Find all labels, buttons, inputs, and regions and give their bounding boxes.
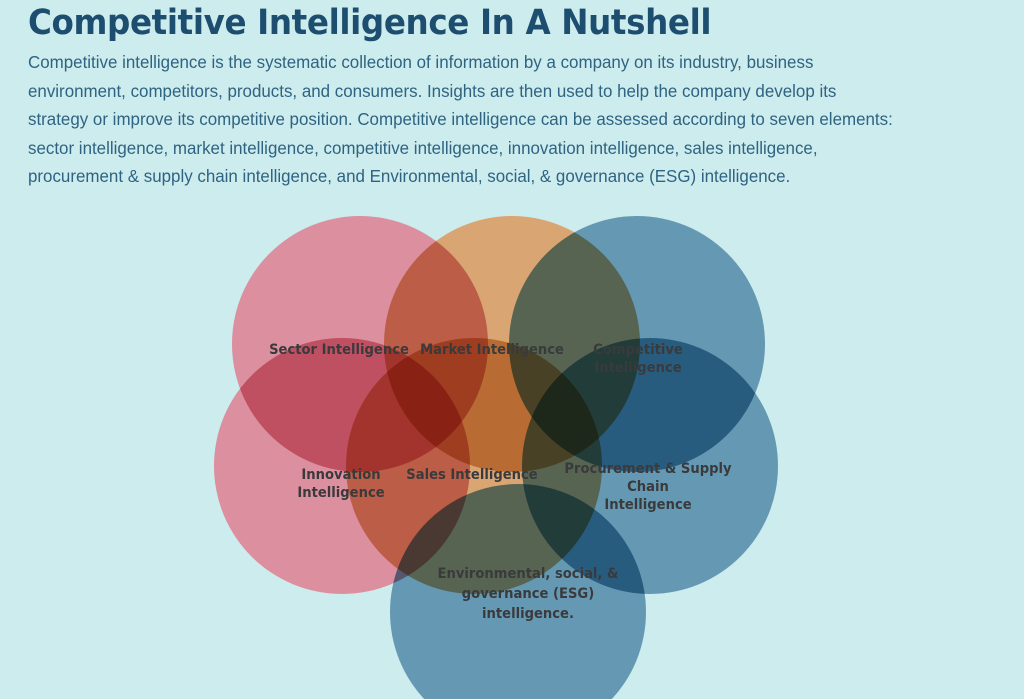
venn-diagram: Sector Intelligence Market Intelligence … <box>0 214 1024 699</box>
venn-circle-group <box>214 216 778 699</box>
venn-diagram-svg <box>0 214 1024 699</box>
header: Competitive Intelligence In A Nutshell C… <box>28 2 928 191</box>
page-root: Competitive Intelligence In A Nutshell C… <box>0 0 1024 699</box>
page-title: Competitive Intelligence In A Nutshell <box>28 2 865 44</box>
page-description: Competitive intelligence is the systemat… <box>28 48 895 191</box>
